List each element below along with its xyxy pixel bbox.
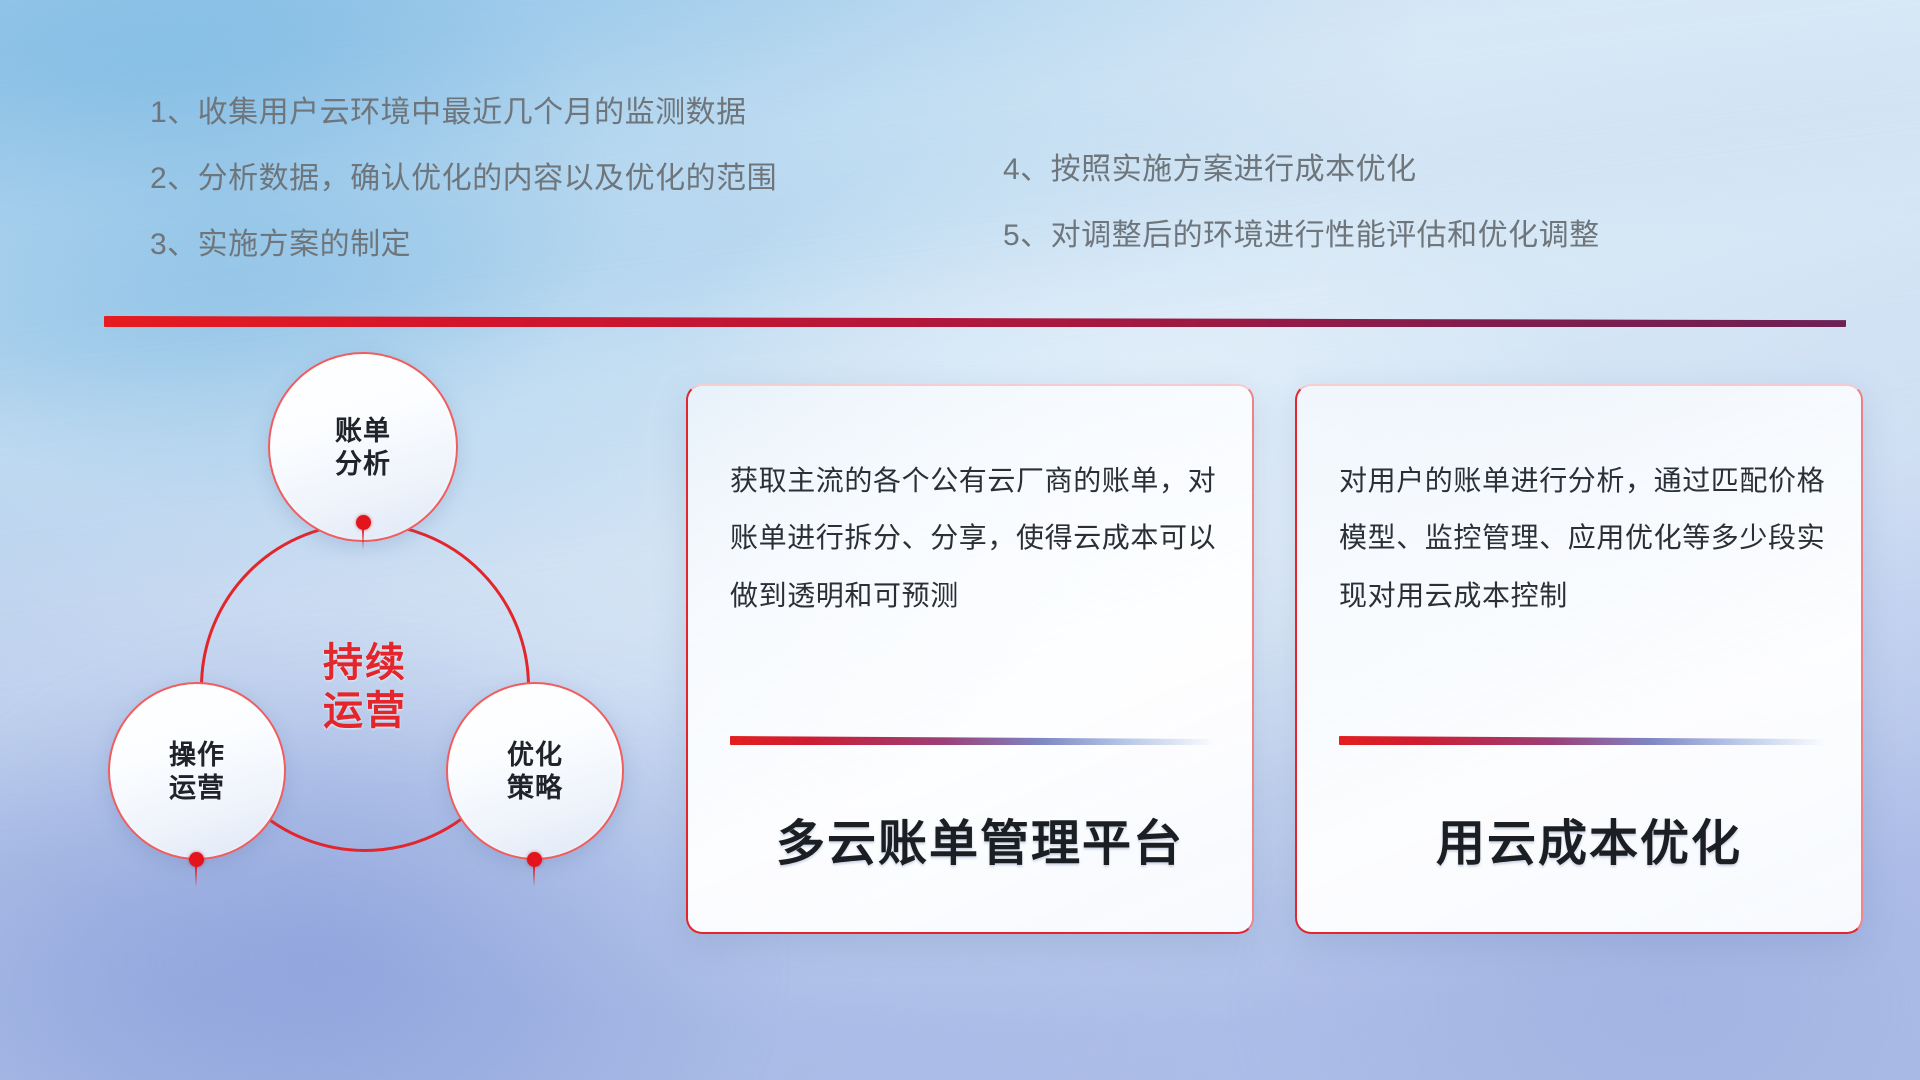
card-title: 多云账单管理平台 (728, 804, 1232, 875)
venn-center-label-line1: 持续 (323, 639, 407, 687)
venn-node-dot-icon (527, 852, 542, 867)
venn-node-tail (362, 528, 364, 550)
venn-bubble-billing-analysis[interactable]: 账单 分析 (268, 352, 458, 542)
step-item: 3、实施方案的制定 (150, 230, 777, 260)
step-item: 2、分析数据，确认优化的内容以及优化的范围 (150, 164, 777, 194)
card-multi-cloud-billing-platform[interactable]: 获取主流的各个公有云厂商的账单，对账单进行拆分、分享，使得云成本可以做到透明和可… (686, 384, 1254, 934)
venn-bubble-label-line1: 账单 (335, 415, 391, 448)
venn-bubble-optimization-strategy[interactable]: 优化 策略 (446, 682, 624, 860)
slide-canvas: 1、收集用户云环境中最近几个月的监测数据 2、分析数据，确认优化的内容以及优化的… (0, 0, 1920, 1080)
venn-bubble-label-line2: 运营 (169, 772, 225, 805)
section-divider (104, 316, 1846, 327)
venn-bubble-label-line2: 分析 (335, 448, 391, 481)
card-body-text: 对用户的账单进行分析，通过匹配价格模型、监控管理、应用优化等多少段实现对用云成本… (1339, 452, 1831, 624)
venn-bubble-label-line1: 操作 (169, 739, 225, 772)
venn-bubble-label-line2: 策略 (507, 772, 563, 805)
venn-diagram: 持续 运营 账单 分析 操作 运营 优化 策略 (96, 352, 636, 932)
venn-bubble-label-line1: 优化 (507, 739, 563, 772)
card-cloud-cost-optimization[interactable]: 对用户的账单进行分析，通过匹配价格模型、监控管理、应用优化等多少段实现对用云成本… (1295, 384, 1863, 934)
venn-node-tail (195, 865, 197, 887)
step-item: 4、按照实施方案进行成本优化 (1003, 155, 1600, 185)
venn-center-label-line2: 运营 (323, 687, 407, 735)
step-item: 5、对调整后的环境进行性能评估和优化调整 (1003, 221, 1600, 251)
venn-bubble-operations[interactable]: 操作 运营 (108, 682, 286, 860)
card-divider (1339, 736, 1825, 745)
venn-node-dot-icon (189, 852, 204, 867)
steps-left-column: 1、收集用户云环境中最近几个月的监测数据 2、分析数据，确认优化的内容以及优化的… (150, 98, 777, 296)
steps-right-column: 4、按照实施方案进行成本优化 5、对调整后的环境进行性能评估和优化调整 (1003, 155, 1600, 287)
card-title: 用云成本优化 (1337, 804, 1841, 875)
card-body-text: 获取主流的各个公有云厂商的账单，对账单进行拆分、分享，使得云成本可以做到透明和可… (730, 452, 1222, 624)
card-divider (730, 736, 1216, 745)
venn-node-dot-icon (356, 515, 371, 530)
divider-bar (104, 316, 1846, 327)
step-item: 1、收集用户云环境中最近几个月的监测数据 (150, 98, 777, 128)
venn-node-tail (533, 865, 535, 887)
